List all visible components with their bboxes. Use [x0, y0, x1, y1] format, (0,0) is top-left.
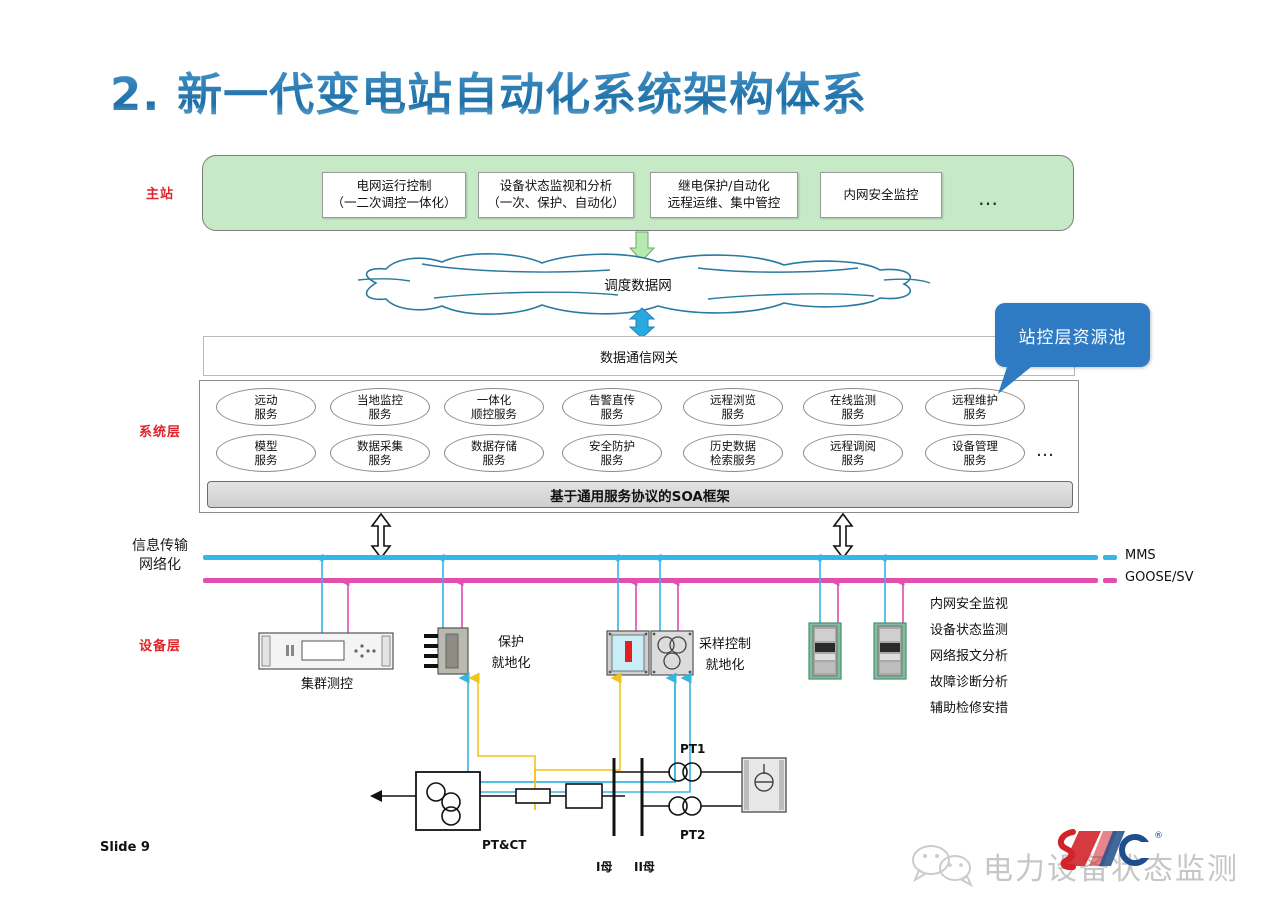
service-node-security-protection[interactable]: 安全防护 服务 — [562, 434, 662, 472]
service-line2: 服务 — [842, 407, 865, 421]
device-function-item: 设备状态监测 — [930, 618, 1008, 644]
service-line1: 历史数据 — [710, 439, 756, 453]
service-line2: 顺控服务 — [471, 407, 517, 421]
callout-tail-icon — [990, 358, 1050, 398]
service-line1: 远程浏览 — [710, 393, 756, 407]
sac-logo: ® — [1055, 828, 1165, 872]
service-node-remote-access[interactable]: 远程调阅 服务 — [803, 434, 903, 472]
master-box-line1: 设备状态监视和分析 — [500, 178, 613, 195]
service-line1: 一体化 — [477, 393, 512, 407]
service-line2: 服务 — [369, 407, 392, 421]
service-line1: 远动 — [255, 393, 278, 407]
caption-sampling-line1: 采样控制 — [680, 636, 770, 654]
service-line1: 模型 — [255, 439, 278, 453]
service-line1: 数据采集 — [357, 439, 403, 453]
slide-canvas: 2. 新一代变电站自动化系统架构体系 主站 系统层 信息传输 网络化 设备层 电… — [0, 0, 1280, 908]
device-function-item: 辅助检修安措 — [930, 696, 1008, 722]
soa-framework-label: 基于通用服务协议的SOA框架 — [550, 485, 730, 505]
service-node-historical-data-retrieval[interactable]: 历史数据 检索服务 — [683, 434, 783, 472]
service-line2: 服务 — [483, 453, 506, 467]
layer-label-master: 主站 — [130, 186, 190, 204]
service-node-data-acquisition[interactable]: 数据采集 服务 — [330, 434, 430, 472]
layer-label-device: 设备层 — [124, 638, 196, 656]
layer-label-network-line1: 信息传输 — [118, 537, 202, 556]
master-box-line1: 继电保护/自动化 — [678, 178, 770, 195]
service-line2: 服务 — [601, 453, 624, 467]
master-box-line1: 内网安全监控 — [843, 187, 918, 204]
service-line1: 告警直传 — [589, 393, 635, 407]
label-pt1: PT1 — [680, 742, 705, 756]
service-node-online-monitoring[interactable]: 在线监测 服务 — [803, 388, 903, 426]
monitoring-cabinet-icon-2[interactable] — [873, 622, 907, 680]
sac-logo-registered-mark: ® — [1154, 831, 1163, 841]
label-pt2: PT2 — [680, 828, 705, 842]
label-pt-ct: PT&CT — [482, 838, 526, 852]
service-line1: 当地监控 — [357, 393, 403, 407]
service-line2: 服务 — [722, 407, 745, 421]
gateway-label: 数据通信网关 — [600, 347, 678, 366]
service-node-data-storage[interactable]: 数据存储 服务 — [444, 434, 544, 472]
service-node-integrated-sequence-control[interactable]: 一体化 顺控服务 — [444, 388, 544, 426]
service-line1: 数据存储 — [471, 439, 517, 453]
service-nodes-ellipsis: … — [1036, 440, 1056, 461]
mms-legend-swatch — [1103, 555, 1117, 560]
service-node-alarm-direct-transmission[interactable]: 告警直传 服务 — [562, 388, 662, 426]
soa-framework-bar[interactable]: 基于通用服务协议的SOA框架 — [207, 481, 1073, 508]
device-function-item: 故障诊断分析 — [930, 670, 1008, 696]
master-box-line2: 远程运维、集中管控 — [668, 195, 781, 212]
service-line2: 服务 — [964, 407, 987, 421]
service-line2: 服务 — [255, 453, 278, 467]
service-line2: 服务 — [255, 407, 278, 421]
cloud-label: 调度数据网 — [318, 274, 958, 294]
service-node-telecontrol[interactable]: 远动 服务 — [216, 388, 316, 426]
master-box-line1: 电网运行控制 — [356, 178, 431, 195]
master-box-grid-control[interactable]: 电网运行控制 （一二次调控一体化） — [322, 172, 466, 218]
service-line2: 服务 — [964, 453, 987, 467]
master-box-relay-protection[interactable]: 继电保护/自动化 远程运维、集中管控 — [650, 172, 798, 218]
service-line2: 服务 — [369, 453, 392, 467]
service-line1: 远程调阅 — [830, 439, 876, 453]
service-node-remote-browsing[interactable]: 远程浏览 服务 — [683, 388, 783, 426]
master-box-line2: （一次、保护、自动化） — [487, 195, 625, 212]
data-communication-gateway[interactable]: 数据通信网关 — [203, 336, 1075, 376]
master-boxes-ellipsis: … — [978, 186, 1000, 210]
service-line1: 安全防护 — [589, 439, 635, 453]
service-node-device-management[interactable]: 设备管理 服务 — [925, 434, 1025, 472]
slide-number: Slide 9 — [100, 840, 150, 855]
device-function-item: 内网安全监视 — [930, 592, 1008, 618]
device-function-item: 网络报文分析 — [930, 644, 1008, 670]
label-busbar-1: I母 — [596, 858, 612, 875]
mms-legend-label: MMS — [1125, 548, 1156, 563]
layer-label-network-line2: 网络化 — [118, 556, 202, 575]
service-line1: 在线监测 — [830, 393, 876, 407]
caption-protection-line1: 保护 — [476, 634, 546, 652]
service-line2: 服务 — [601, 407, 624, 421]
arrow-cloud-to-gateway — [628, 308, 656, 338]
service-line1: 设备管理 — [952, 439, 998, 453]
service-line2: 服务 — [842, 453, 865, 467]
single-line-diagram — [370, 750, 810, 860]
service-node-model[interactable]: 模型 服务 — [216, 434, 316, 472]
service-node-local-monitoring[interactable]: 当地监控 服务 — [330, 388, 430, 426]
layer-label-system: 系统层 — [124, 424, 196, 442]
goose-sv-legend-swatch — [1103, 578, 1117, 583]
device-functions-list: 内网安全监视 设备状态监测 网络报文分析 故障诊断分析 辅助检修安措 — [930, 592, 1008, 722]
master-box-equipment-status[interactable]: 设备状态监视和分析 （一次、保护、自动化） — [478, 172, 634, 218]
monitoring-cabinet-icon-1[interactable] — [808, 622, 842, 680]
goose-sv-legend-label: GOOSE/SV — [1125, 570, 1194, 585]
master-box-intranet-security[interactable]: 内网安全监控 — [820, 172, 942, 218]
master-box-line2: （一二次调控一体化） — [331, 195, 456, 212]
page-title: 2. 新一代变电站自动化系统架构体系 — [110, 58, 867, 123]
callout-label: 站控层资源池 — [1019, 323, 1127, 348]
label-busbar-2: II母 — [634, 858, 655, 875]
service-line2: 检索服务 — [710, 453, 756, 467]
